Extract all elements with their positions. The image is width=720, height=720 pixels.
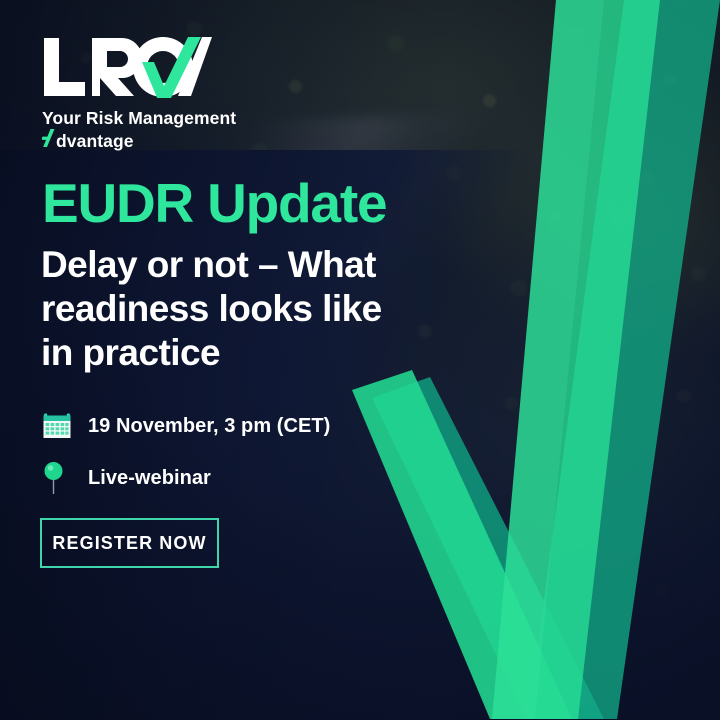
tagline-line-2: dvantage bbox=[42, 129, 236, 152]
tagline-line-1: Your Risk Management bbox=[42, 107, 236, 129]
webinar-promo-graphic: Your Risk Management dvantage EUDR Updat… bbox=[0, 0, 720, 720]
register-now-label: REGISTER NOW bbox=[52, 533, 206, 554]
calendar-icon-glyph bbox=[42, 411, 72, 441]
event-location-text: Live-webinar bbox=[88, 467, 211, 490]
tagline-line-2-text: dvantage bbox=[56, 130, 134, 152]
register-now-button[interactable]: REGISTER NOW bbox=[40, 518, 219, 568]
calendar-icon bbox=[42, 411, 82, 441]
map-pin-icon-glyph bbox=[42, 461, 66, 495]
lrqa-tagline: Your Risk Management dvantage bbox=[42, 107, 236, 153]
subheadline-line-1: Delay or not – What bbox=[41, 243, 382, 287]
event-date-text: 19 November, 3 pm (CET) bbox=[88, 415, 330, 438]
event-location-row: Live-webinar bbox=[42, 456, 330, 500]
subheadline: Delay or not – What readiness looks like… bbox=[41, 243, 382, 375]
headline: EUDR Update bbox=[42, 176, 386, 231]
event-date-row: 19 November, 3 pm (CET) bbox=[42, 404, 330, 448]
advantage-accent-letter bbox=[42, 129, 55, 147]
lrqa-logo: Your Risk Management dvantage bbox=[42, 36, 236, 153]
event-details: 19 November, 3 pm (CET) Live-webinar bbox=[42, 404, 330, 500]
subheadline-line-3: in practice bbox=[41, 331, 382, 375]
advantage-a-icon bbox=[42, 129, 55, 147]
map-pin-icon bbox=[42, 461, 82, 495]
lrqa-wordmark-icon bbox=[42, 36, 214, 98]
subheadline-line-2: readiness looks like bbox=[41, 287, 382, 331]
